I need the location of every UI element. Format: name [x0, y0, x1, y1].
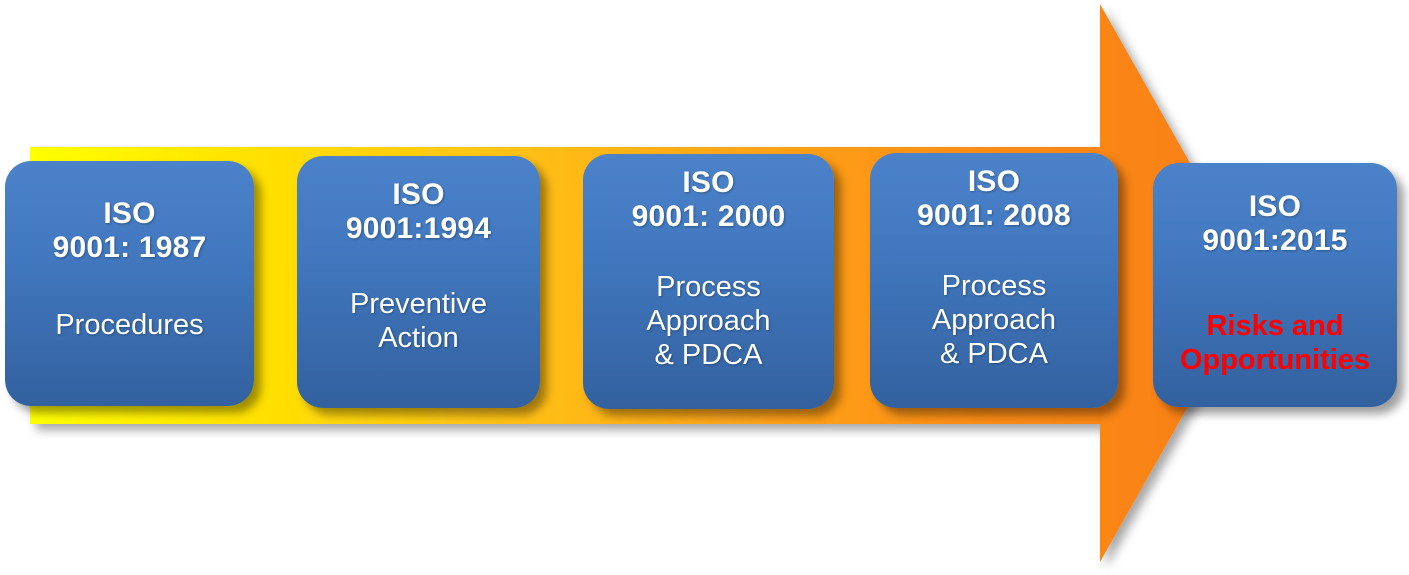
stage-box-iso-9001-2015[interactable]: ISO 9001:2015 Risks and Opportunities — [1153, 163, 1397, 407]
stage-box-iso-9001-2000[interactable]: ISO 9001: 2000 Process Approach & PDCA — [583, 154, 834, 409]
stage-title: ISO 9001: 2008 — [917, 165, 1071, 233]
stage-subtitle: Process Approach & PDCA — [646, 271, 770, 373]
stage-box-iso-9001-1994[interactable]: ISO 9001:1994 Preventive Action — [297, 156, 540, 408]
stage-subtitle: Process Approach & PDCA — [932, 270, 1056, 372]
stage-title: ISO 9001:2015 — [1202, 190, 1347, 258]
stage-subtitle: Preventive Action — [350, 288, 487, 356]
stage-title: ISO 9001: 1987 — [53, 197, 207, 265]
stage-subtitle: Procedures — [55, 309, 203, 343]
stage-box-iso-9001-2008[interactable]: ISO 9001: 2008 Process Approach & PDCA — [870, 153, 1118, 408]
stage-subtitle-highlight: Risks and Opportunities — [1180, 310, 1370, 378]
iso-evolution-diagram: ISO 9001: 1987 Procedures ISO 9001:1994 … — [0, 0, 1409, 575]
stage-box-iso-9001-1987[interactable]: ISO 9001: 1987 Procedures — [5, 161, 254, 406]
stage-title: ISO 9001: 2000 — [632, 166, 786, 234]
stage-title: ISO 9001:1994 — [346, 178, 491, 246]
